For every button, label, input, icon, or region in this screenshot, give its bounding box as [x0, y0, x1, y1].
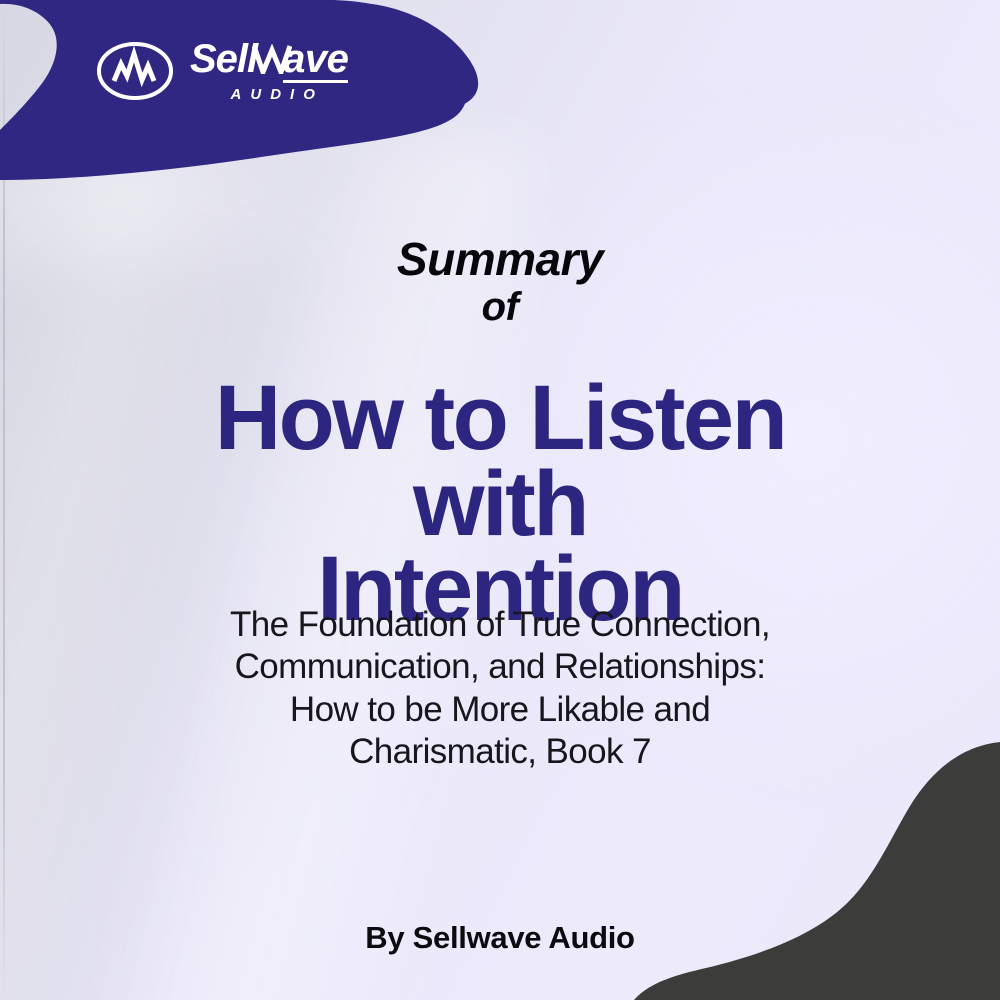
subtitle-line-1: The Foundation of True Connection, — [0, 604, 1000, 646]
brand-sub-label: AUDIO — [190, 86, 348, 103]
brand-wave-w-icon — [252, 42, 292, 72]
book-subtitle: The Foundation of True Connection, Commu… — [0, 604, 1000, 773]
title-line-2: with — [0, 462, 1000, 548]
subtitle-line-2: Communication, and Relationships: — [0, 646, 1000, 688]
summary-line-1: Summary — [0, 236, 1000, 282]
summary-line-2: of — [0, 282, 1000, 332]
brand-wordmark: Sell ave AUDIO — [190, 40, 348, 103]
subtitle-line-3: How to be More Likable and — [0, 689, 1000, 731]
book-title: How to Listen with Intention — [0, 376, 1000, 633]
subtitle-line-4: Charismatic, Book 7 — [0, 731, 1000, 773]
brand-name: Sell ave — [190, 40, 348, 83]
sellwave-oval-waveform-logo-icon — [96, 40, 174, 102]
title-line-1: How to Listen — [0, 376, 1000, 462]
audiobook-cover: Sell ave AUDIO Summary of How to Listen … — [0, 0, 1000, 1000]
brand-logo: Sell ave AUDIO — [96, 38, 348, 103]
brand-name-part-2: ave — [283, 40, 348, 83]
summary-label: Summary of — [0, 236, 1000, 332]
author-byline: By Sellwave Audio — [0, 920, 1000, 956]
brand-name-part-1: Sell — [190, 40, 257, 79]
